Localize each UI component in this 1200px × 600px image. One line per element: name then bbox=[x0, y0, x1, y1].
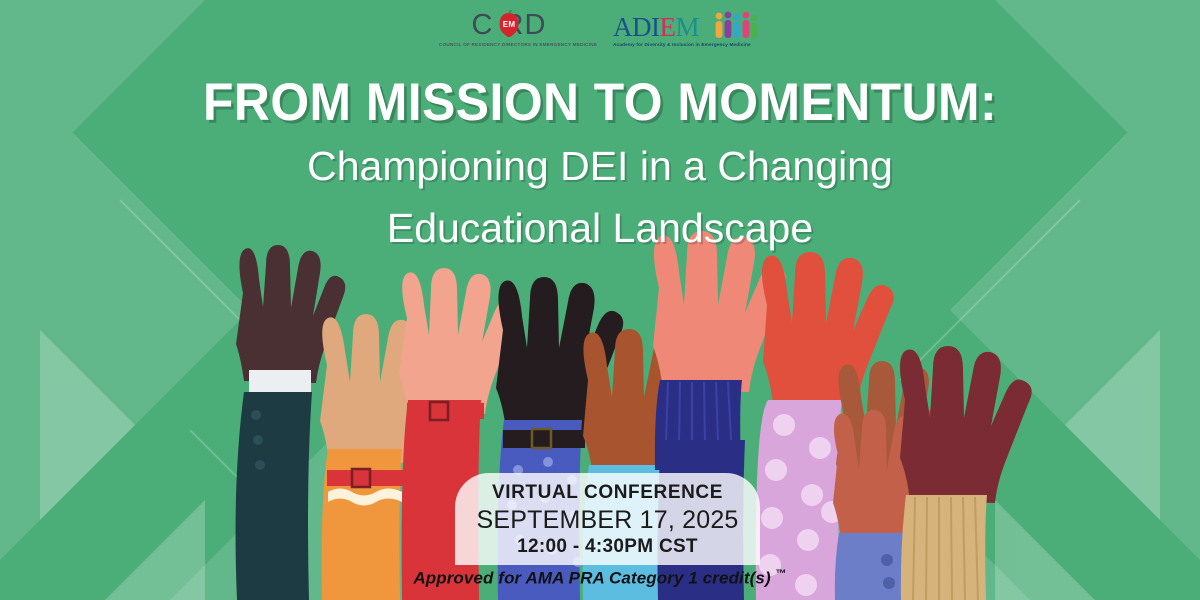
event-time: 12:00 - 4:30PM CST bbox=[455, 535, 760, 559]
cme-credit-text: Approved for AMA PRA Category 1 credit(s… bbox=[413, 569, 770, 588]
event-info-panel: VIRTUAL CONFERENCE SEPTEMBER 17, 2025 12… bbox=[455, 473, 760, 565]
cord-em-label: EM bbox=[496, 20, 522, 29]
headline-block: FROM MISSION TO MOMENTUM: Championing DE… bbox=[0, 74, 1200, 256]
adiem-wordmark: ADIEM bbox=[613, 12, 699, 42]
event-date: SEPTEMBER 17, 2025 bbox=[455, 505, 760, 535]
people-icon bbox=[713, 10, 759, 40]
logo-bar: C RD EM COUNCIL OF RESIDENCY DIRECTORS I… bbox=[0, 6, 1200, 54]
adiem-tagline: Academy for Diversity & Inclusion in Eme… bbox=[613, 42, 761, 47]
event-poster: C RD EM COUNCIL OF RESIDENCY DIRECTORS I… bbox=[0, 0, 1200, 600]
hand-maroon-tan-sleeve bbox=[900, 346, 1032, 600]
adiem-logo: ADIEM Academy for Diversity & Inclusion … bbox=[613, 8, 761, 52]
cord-tagline: COUNCIL OF RESIDENCY DIRECTORS IN EMERGE… bbox=[439, 42, 579, 47]
headline-line-3: Educational Landscape bbox=[0, 200, 1200, 256]
headline-line-2: Championing DEI in a Changing bbox=[0, 138, 1200, 194]
cord-logo: C RD EM COUNCIL OF RESIDENCY DIRECTORS I… bbox=[439, 7, 579, 53]
cme-credit-line: Approved for AMA PRA Category 1 credit(s… bbox=[0, 568, 1200, 589]
headline-line-1: FROM MISSION TO MOMENTUM: bbox=[36, 74, 1164, 132]
event-type-label: VIRTUAL CONFERENCE bbox=[455, 481, 760, 505]
trademark-symbol: ™ bbox=[776, 568, 787, 580]
